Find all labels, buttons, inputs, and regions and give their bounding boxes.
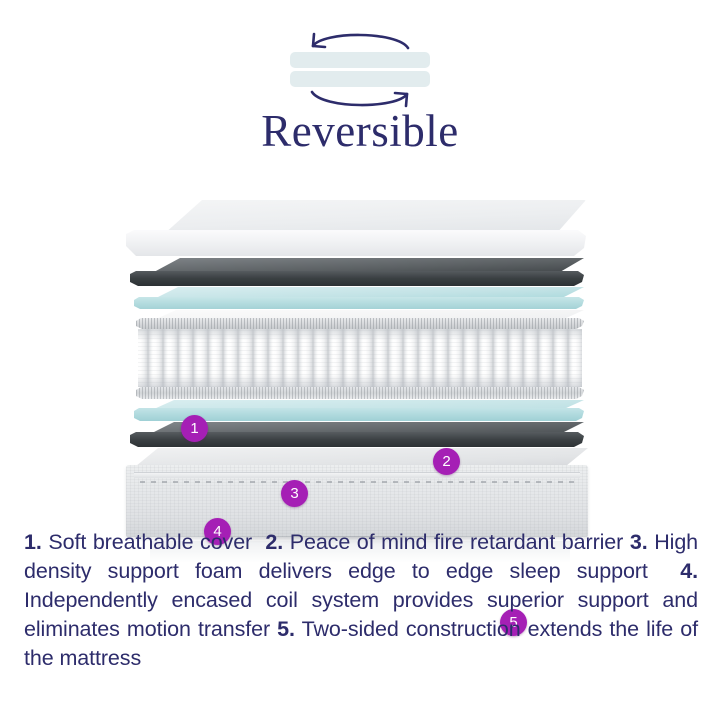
reversible-icon-block: [0, 24, 720, 116]
icon-mattress-top-bar: [290, 52, 430, 68]
caption-block: 1. Soft breathable cover 2. Peace of min…: [24, 528, 698, 673]
base-stitch-line: [140, 481, 574, 483]
mattress-layer-cutaway: 1 2 3 4 5: [0, 196, 720, 506]
layer-support-foam-top-face: [144, 287, 584, 298]
caption-number-4: 4.: [680, 559, 698, 583]
rotation-arrows-icon: [285, 24, 435, 116]
caption-number-5: 5.: [277, 617, 295, 641]
base-edge-lip: [134, 472, 580, 478]
layer-badge-3: 3: [281, 480, 308, 507]
caption-number-1: 1.: [24, 530, 42, 554]
caption-text-2: Peace of mind fire retardant barrier: [290, 530, 624, 554]
layer-upper-mesh-top-face: [146, 310, 584, 319]
caption-text-1: Soft breathable cover: [48, 530, 252, 554]
layer-badge-1: 1: [181, 415, 208, 442]
layer-lower-support-foam-top-face: [144, 400, 584, 409]
layer-upper-mesh-fabric: [136, 318, 584, 329]
icon-mattress-bottom-bar: [290, 71, 430, 87]
layer-high-density-support-foam: [134, 297, 584, 309]
layer-fire-retardant-barrier: [130, 271, 584, 286]
caption-number-3: 3.: [630, 530, 648, 554]
layer-fire-barrier-top-face: [140, 258, 584, 272]
layer-encased-coil-system: [138, 329, 582, 387]
coil-shading-overlay: [138, 329, 582, 387]
layer-soft-breathable-cover: [126, 230, 586, 256]
page-title: Reversible: [0, 108, 720, 155]
caption-number-2: 2.: [265, 530, 283, 554]
layer-two-sided-base: [126, 465, 588, 537]
infographic-page: Reversible 1 2 3 4 5: [0, 0, 720, 720]
layer-cover-top-face: [134, 200, 586, 234]
reversible-mattress-icon: [285, 24, 435, 116]
layer-lower-mesh-fabric: [136, 387, 584, 399]
layer-badge-2: 2: [433, 448, 460, 475]
base-top-face: [136, 448, 588, 466]
